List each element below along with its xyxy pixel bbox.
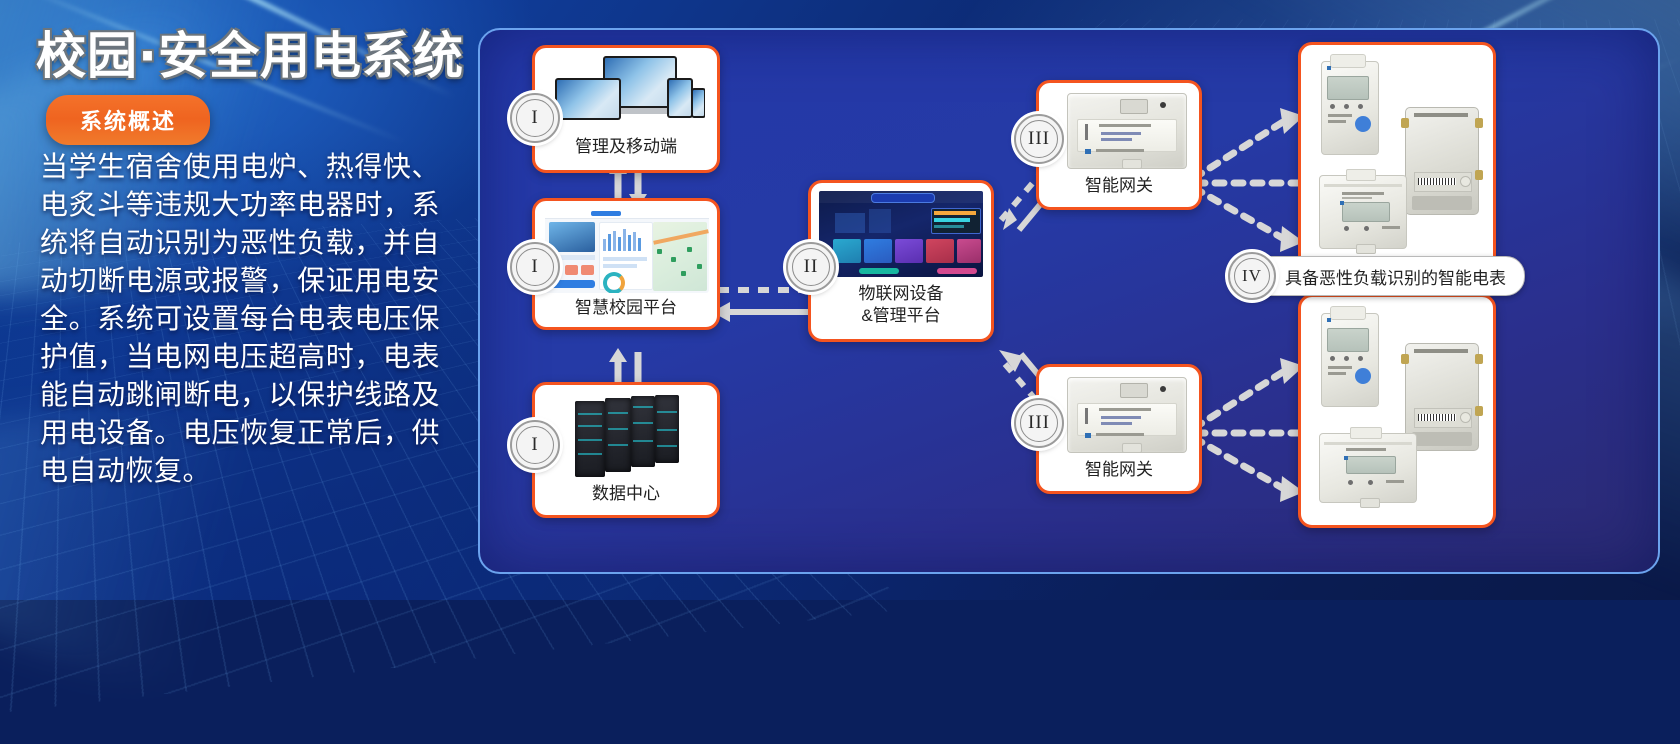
step-mark-i-campus: I <box>510 242 560 292</box>
step-mark-iii-gateway-bottom: III <box>1014 398 1064 448</box>
node-label-iot-platform-line2: &管理平台 <box>811 305 991 327</box>
step-mark-iii-gateway-top: III <box>1014 114 1064 164</box>
gateway-artwork <box>1067 93 1187 169</box>
callout-label: 具备恶性负载识别的智能电表 <box>1285 264 1506 289</box>
step-mark-i-data-center: I <box>510 420 560 470</box>
node-card-meters-bottom[interactable] <box>1298 294 1496 528</box>
din-meter-artwork <box>1321 313 1379 407</box>
architecture-diagram-panel: 管理及移动端 I <box>478 28 1660 574</box>
node-label-admin-mobile: 管理及移动端 <box>535 136 717 158</box>
din-meter-artwork <box>1321 61 1379 155</box>
overview-paragraph: 当学生宿舍使用电炉、热得快、电炙斗等违规大功率电器时，系统将自动识别为恶性负载，… <box>40 148 440 490</box>
three-phase-meter-artwork <box>1405 107 1479 215</box>
din-meter-wide-artwork <box>1319 433 1417 503</box>
node-label-gateway-bottom: 智能网关 <box>1039 459 1199 481</box>
devices-artwork <box>555 56 705 130</box>
node-label-gateway-top: 智能网关 <box>1039 175 1199 197</box>
step-mark-ii-iot: II <box>786 242 836 292</box>
server-artwork <box>575 395 681 477</box>
node-card-admin-mobile[interactable]: 管理及移动端 <box>532 45 720 173</box>
node-label-smart-campus: 智慧校园平台 <box>535 297 717 319</box>
node-card-data-center[interactable]: 数据中心 <box>532 382 720 518</box>
node-label-data-center: 数据中心 <box>535 483 717 505</box>
node-card-iot-platform[interactable]: 物联网设备 &管理平台 <box>808 180 994 342</box>
intro-column: 校园·安全用电系统 系统概述 当学生宿舍使用电炉、热得快、电炙斗等违规大功率电器… <box>0 0 470 600</box>
node-card-smart-campus[interactable]: 智慧校园平台 <box>532 198 720 330</box>
page-title: 校园·安全用电系统 <box>36 16 466 88</box>
iot-screen-artwork <box>819 191 983 277</box>
step-mark-i-admin: I <box>510 93 560 143</box>
step-mark-iv-meters: IV <box>1228 252 1276 300</box>
section-badge: 系统概述 <box>46 95 210 145</box>
din-meter-wide-artwork <box>1319 175 1407 249</box>
node-card-meters-top[interactable] <box>1298 42 1496 276</box>
dashboard-artwork <box>545 209 709 293</box>
meter-callout-pill[interactable]: 具备恶性负载识别的智能电表 <box>1236 256 1525 296</box>
node-label-iot-platform-line1: 物联网设备 <box>811 283 991 305</box>
gateway-artwork <box>1067 377 1187 453</box>
